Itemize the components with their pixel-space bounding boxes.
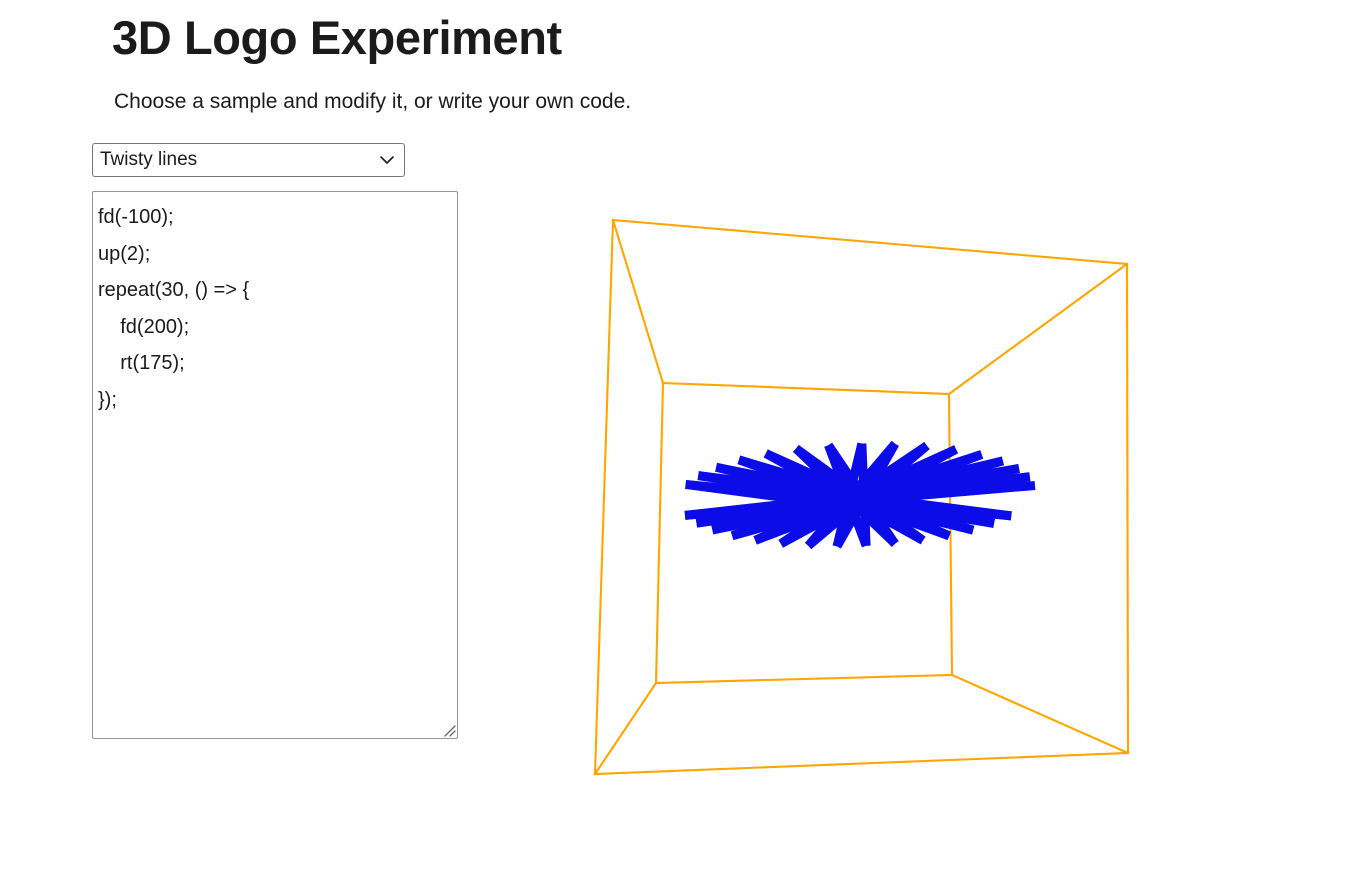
page-title: 3D Logo Experiment [112, 6, 562, 70]
turtle-path [685, 444, 1035, 547]
code-editor-wrapper [92, 191, 458, 739]
code-editor[interactable] [92, 191, 458, 739]
page-subtitle: Choose a sample and modify it, or write … [114, 88, 631, 116]
sample-select[interactable]: Twisty lines [92, 143, 405, 177]
turtle-3d-canvas[interactable] [480, 150, 1340, 850]
sample-select-wrapper: Twisty lines [92, 143, 405, 177]
